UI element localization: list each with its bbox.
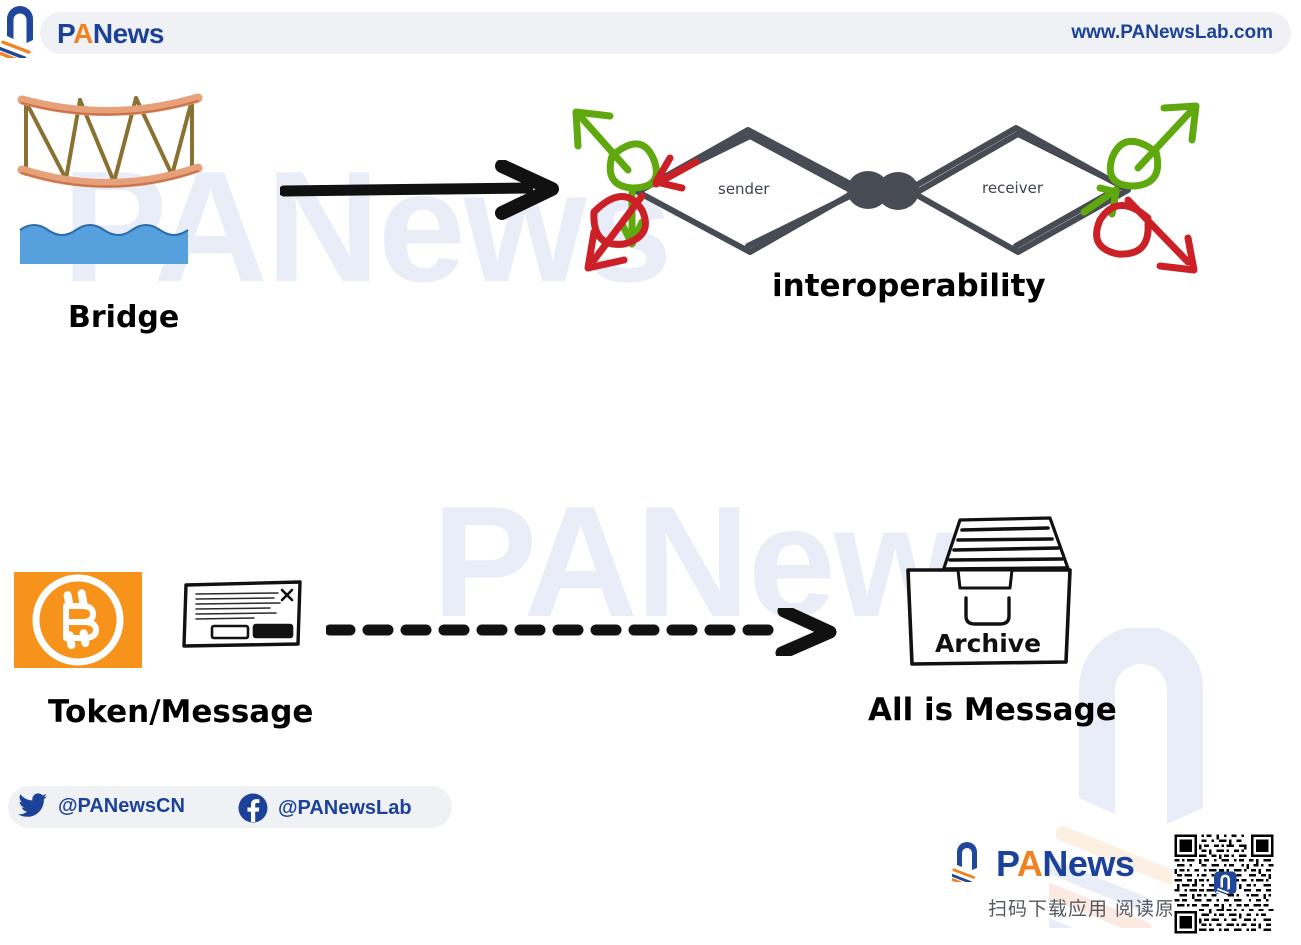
bitcoin-coin-icon [14,572,142,668]
sender-node-label: sender [718,180,769,198]
interoperability-caption: interoperability [772,268,1046,304]
header-website-url[interactable]: www.PANewsLab.com [1071,22,1273,44]
header-brand: PANews [57,18,164,50]
archive-file-box-icon: Archive [900,512,1080,677]
twitter-handle: @PANewsCN [58,795,185,818]
footer-brand-suffix: News [1042,843,1134,884]
bridge-caption: Bridge [68,300,179,335]
sender-receiver-interop-diagram-icon [560,92,1210,282]
footer-tagline: 扫码下载应用 阅读原文 [988,894,1195,921]
receiver-node-label: receiver [982,179,1043,197]
qr-code-icon[interactable] [1172,832,1276,936]
all-is-message-caption: All is Message [868,692,1117,728]
token-message-caption: Token/Message [48,694,313,730]
archive-box-label: Archive [935,629,1041,658]
footer-brand: PANews [996,843,1134,885]
footer-brand-prefix: P [996,843,1017,884]
footer-brand-accent: A [1017,843,1043,884]
facebook-icon [238,793,268,823]
social-link-twitter[interactable]: @PANewsCN [18,793,185,819]
facebook-handle: @PANewsLab [278,797,412,820]
panews-n-logo-icon [0,4,52,58]
infographic-canvas: PANews PANews PANews www.PANewsLab.com [0,0,1301,945]
solid-right-arrow-icon [280,160,565,220]
twitter-icon [18,793,48,819]
panews-n-logo-icon [952,840,992,882]
header-brand-suffix: News [93,18,164,49]
social-link-facebook[interactable]: @PANewsLab [238,793,412,823]
message-dialog-icon[interactable] [182,578,304,650]
dashed-right-arrow-icon [326,608,840,656]
header-brand-accent: A [73,18,93,49]
header-brand-prefix: P [57,18,73,49]
bridge-truss-over-water-icon [14,78,214,268]
